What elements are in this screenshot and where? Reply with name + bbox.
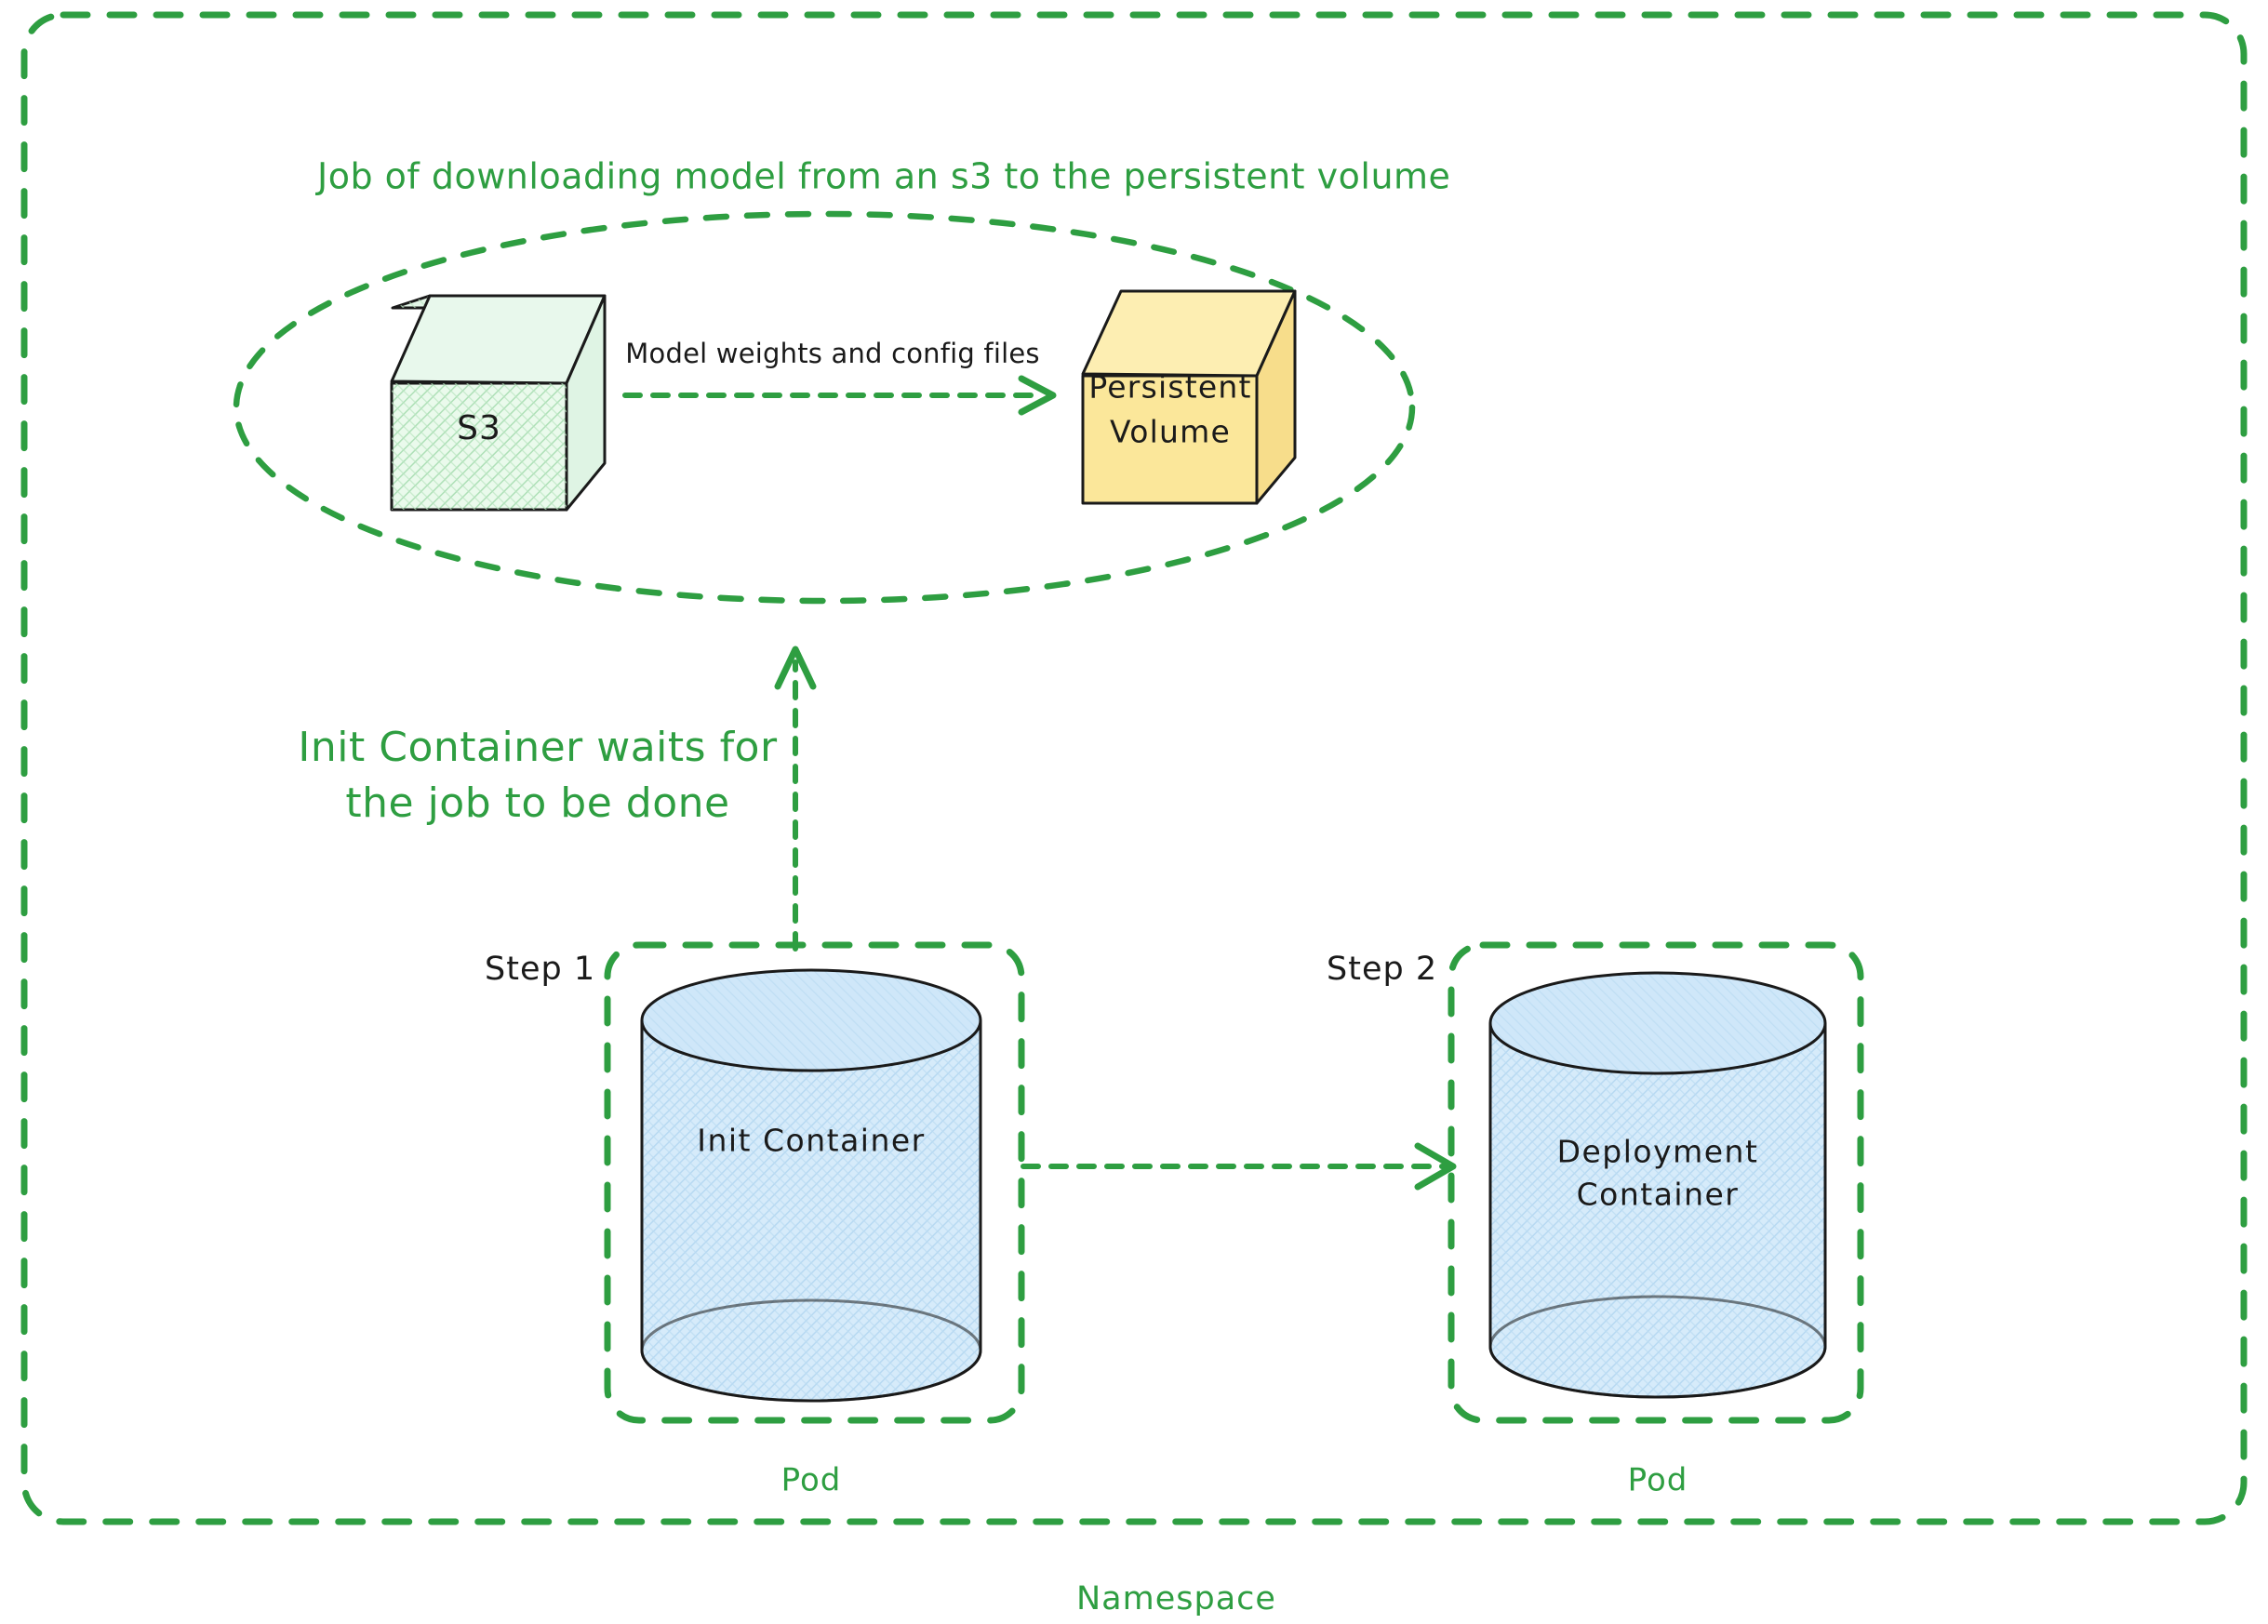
s3-cube: S3 [392, 296, 605, 510]
init-wait-note-line1: Init Container waits for [298, 724, 778, 771]
pod-2-label: Pod [1628, 1462, 1688, 1499]
persistent-volume-label-line2: Volume [1110, 414, 1231, 450]
deployment-container-label-line2: Container [1577, 1177, 1740, 1213]
namespace-label: Namespace [1076, 1580, 1276, 1617]
init-container-label: Init Container [697, 1123, 926, 1159]
s3-cube-label: S3 [457, 409, 501, 447]
deployment-container-label-line1: Deployment [1557, 1134, 1759, 1170]
architecture-diagram: Namespace Job of downloading model from … [0, 0, 2268, 1624]
persistent-volume-label-line1: Persistent [1088, 369, 1251, 406]
pod-1-label: Pod [781, 1462, 842, 1499]
diagram-canvas: Namespace Job of downloading model from … [0, 0, 2268, 1624]
init-wait-note-line2: the job to be done [345, 779, 729, 827]
deployment-container-cylinder: Deployment Container [1490, 973, 1825, 1397]
step-2-label: Step 2 [1327, 951, 1437, 988]
persistent-volume-cube: Persistent Volume [1083, 291, 1295, 503]
model-transfer-edge-label: Model weights and config files [625, 338, 1039, 369]
init-container-cylinder: Init Container [642, 970, 981, 1401]
step-1-label: Step 1 [485, 951, 595, 988]
job-title: Job of downloading model from an s3 to t… [315, 156, 1450, 197]
